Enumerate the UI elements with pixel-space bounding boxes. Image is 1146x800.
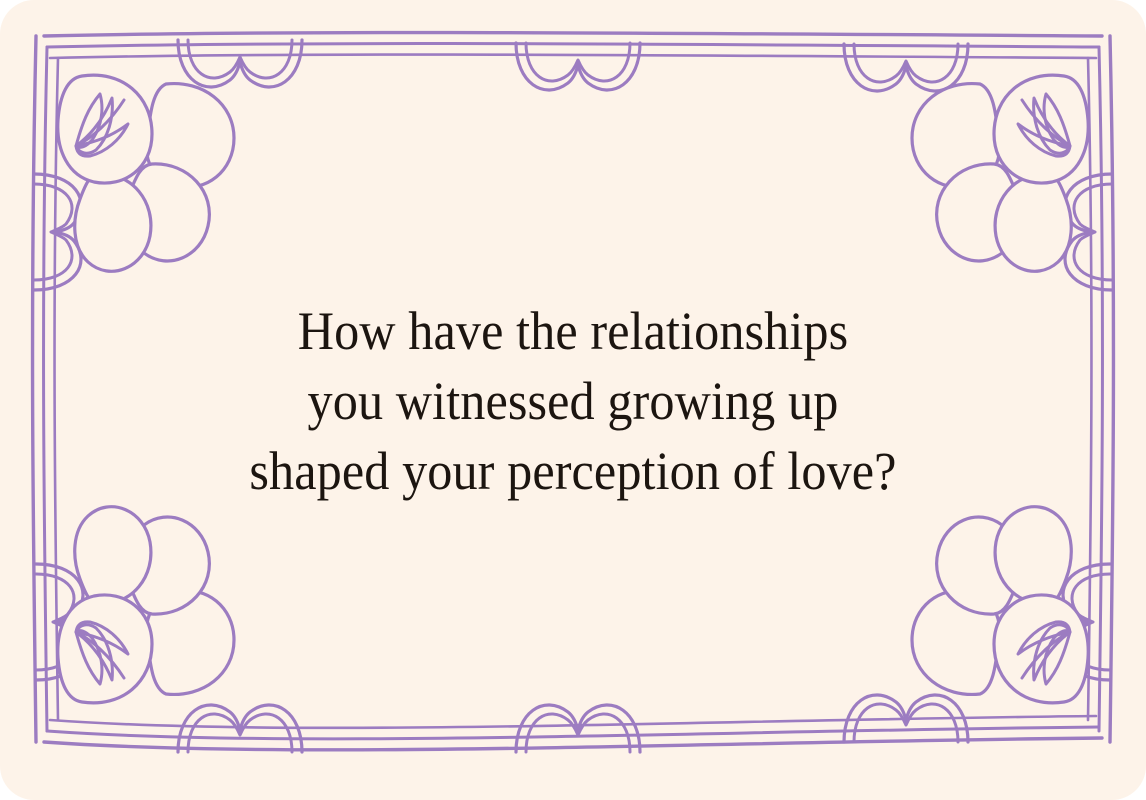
prompt-line-1: How have the relationships xyxy=(40,296,1106,366)
prompt-card: How have the relationships you witnessed… xyxy=(0,0,1146,800)
prompt-line-3: shaped your perception of love? xyxy=(40,436,1106,506)
prompt-line-2: you witnessed growing up xyxy=(40,366,1106,436)
prompt-text: How have the relationships you witnessed… xyxy=(0,296,1146,506)
